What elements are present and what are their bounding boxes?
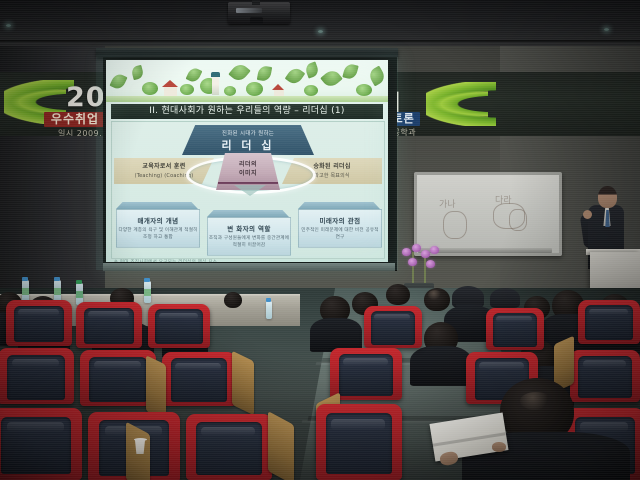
bottle-cap — [22, 277, 28, 281]
auditorium-seat[interactable] — [186, 414, 272, 480]
orchid-bloom — [430, 246, 439, 254]
ceiling-light — [6, 24, 11, 27]
bush-icon — [246, 82, 263, 96]
seat-highlight — [580, 422, 628, 432]
slide-title: II. 현대사회가 원하는 우리들의 역량 – 리더십 (1) — [111, 104, 383, 119]
bush-icon — [304, 85, 318, 96]
cube-top-face — [207, 210, 289, 217]
auditorium-seat[interactable] — [0, 348, 74, 404]
leaf-icon — [304, 61, 320, 78]
ceiling-light — [318, 30, 323, 33]
auditorium-seat[interactable] — [80, 350, 156, 406]
diagram-header-box: 진화된 시대가 원하는 리 더 십 — [182, 125, 314, 155]
screen-bottom-edge — [103, 263, 395, 271]
bush-icon — [180, 84, 194, 95]
leaf-icon — [228, 61, 250, 84]
seat-highlight — [589, 309, 627, 315]
bottle-cap — [266, 298, 271, 302]
ceiling-seam — [0, 40, 640, 42]
diagram-cube-2: 변 화자의 역할 조직과 구성원들에게 변화를 중간관계에 적절히 이끌어감 — [207, 210, 289, 254]
bottle-cap — [54, 277, 60, 281]
projector-lens — [250, 17, 263, 25]
presenter-head — [598, 186, 617, 208]
cap-icon — [490, 288, 520, 308]
diagram-cube-1: 매개자의 개념 다양한 계층의 욕구 및 이해관계 적절히 조정 하고 통합 — [116, 202, 198, 246]
slide-decorative-band — [106, 60, 388, 102]
projector-mount — [252, 0, 260, 5]
person-hand — [492, 442, 506, 452]
person-head — [386, 284, 410, 305]
auditorium-seat[interactable] — [0, 408, 82, 480]
cube-front-face: 미래자의 관점 민주적인 미래문제에 대한 비전 공유적 연구 — [298, 209, 382, 248]
bottle-cap — [144, 278, 150, 282]
auditorium-seat[interactable] — [570, 350, 640, 402]
person-head — [224, 292, 242, 308]
seat-highlight — [12, 359, 59, 367]
core-line2: 이미지 — [216, 169, 280, 178]
slide-diagram: 진화된 시대가 원하는 리 더 십 교육자로서 훈련 (Teaching) (C… — [111, 121, 385, 259]
leaf-icon — [285, 65, 306, 86]
seat-highlight — [343, 358, 388, 365]
diagram-header-title: 리 더 십 — [182, 139, 314, 153]
orchid-bloom — [402, 248, 411, 256]
bush-icon — [142, 82, 158, 95]
lighthouse-icon — [212, 77, 219, 95]
leaf-icon — [367, 66, 387, 87]
seat-highlight — [201, 427, 254, 436]
cube-1-title: 매개자의 개념 — [117, 210, 199, 227]
bottle-label — [54, 288, 61, 295]
cube-2-sub: 조직과 구성원들에게 변화를 중간관계에 적절히 이끌어감 — [208, 235, 290, 249]
bush-icon — [356, 84, 372, 96]
cube-front-face: 변 화자의 역할 조직과 구성원들에게 변화를 중간관계에 적절히 이끌어감 — [207, 217, 291, 256]
bottle-cap — [76, 280, 82, 284]
ceiling-light — [604, 28, 609, 31]
cube-3-sub: 민주적인 미래문제에 대한 비전 공유적 연구 — [299, 227, 381, 241]
auditorium-seat[interactable] — [76, 302, 142, 348]
cube-1-sub: 다양한 계층의 욕구 및 이해관계 적절히 조정 하고 통합 — [117, 227, 199, 241]
diagram-header-subtitle: 진화된 시대가 원하는 — [182, 125, 314, 139]
seat-highlight — [7, 422, 64, 432]
cube-3-title: 미래자의 관점 — [299, 210, 381, 227]
orchid-stem — [424, 256, 426, 286]
leaf-icon — [109, 72, 127, 91]
lecture-hall-photo: 200 우수취업 일시 2009. 수회 공전학토론 학교 환경공학과 — [0, 0, 640, 480]
presenter-hand — [583, 210, 592, 219]
seat-highlight — [94, 361, 141, 369]
auditorium-seat[interactable] — [364, 306, 422, 348]
cube-top-face — [298, 202, 380, 209]
seat-highlight — [88, 311, 129, 317]
whiteboard-mark: 가나 — [439, 197, 456, 210]
projection-screen: II. 현대사회가 원하는 우리들의 역량 – 리더십 (1) 진화된 시대가 … — [106, 60, 388, 262]
seat-highlight — [496, 316, 532, 322]
bottle-label — [76, 291, 83, 298]
seat-armrest — [232, 351, 254, 416]
seat-highlight — [175, 363, 221, 371]
diagram-cube-3: 미래자의 관점 민주적인 미래문제에 대한 비전 공유적 연구 — [298, 202, 380, 246]
banner-left-sub: 일시 2009. — [58, 128, 102, 136]
bottle-label — [144, 289, 151, 296]
whiteboard: 가나 다라 — [414, 172, 562, 256]
core-underline — [218, 182, 278, 184]
orchid-bloom — [426, 260, 435, 268]
orchid-bloom — [421, 250, 430, 258]
leaf-icon — [186, 66, 203, 84]
person-hair-highlight — [428, 290, 442, 300]
bush-icon — [224, 86, 236, 96]
auditorium-seat[interactable] — [486, 308, 544, 350]
auditorium-seat[interactable] — [148, 304, 210, 348]
projector-highlight — [236, 8, 262, 13]
cube-front-face: 매개자의 개념 다양한 계층의 욕구 및 이해관계 적절히 조정 하고 통합 — [116, 209, 200, 248]
bottle-label — [22, 288, 29, 295]
seat-highlight — [374, 314, 410, 320]
water-bottle — [266, 301, 272, 319]
banner-red-band: 우수취업 — [44, 112, 106, 127]
whiteboard-scribble — [443, 211, 467, 239]
house-icon — [164, 87, 177, 96]
auditorium-seat[interactable] — [6, 300, 72, 346]
green-swoosh-logo — [426, 78, 500, 130]
core-line1: 리더의 — [216, 160, 280, 169]
grass-line — [106, 96, 388, 102]
auditorium-seat[interactable] — [578, 300, 640, 344]
seat-highlight — [583, 360, 626, 367]
down-arrow-icon — [234, 185, 266, 196]
seat-highlight — [159, 313, 197, 319]
leaf-icon — [320, 67, 343, 89]
auditorium-seat[interactable] — [330, 348, 402, 400]
cube-top-face — [116, 202, 198, 209]
whiteboard-scribble — [509, 209, 527, 231]
leaf-icon — [257, 65, 272, 82]
auditorium-seat[interactable] — [316, 404, 402, 480]
seat-highlight — [331, 419, 384, 430]
auditorium-seat[interactable] — [162, 352, 236, 406]
orchid-bloom — [412, 244, 421, 252]
person-shoulders — [310, 318, 362, 352]
person-hair-highlight — [520, 392, 552, 410]
cube-2-title: 변 화자의 역할 — [208, 218, 290, 235]
presentation-slide: II. 현대사회가 원하는 우리들의 역량 – 리더십 (1) 진화된 시대가 … — [106, 60, 388, 262]
orchid-bloom — [408, 258, 417, 266]
leaf-icon — [131, 65, 145, 80]
seat-armrest — [146, 355, 166, 421]
seat-highlight — [18, 309, 59, 315]
house-roof-icon — [162, 80, 178, 87]
slide-footer-note: ※ 현대 조직사회에서 요구되는 리더십의 핵심 요소 — [114, 259, 374, 262]
seat-highlight — [479, 362, 524, 369]
screen-roller-bar — [96, 48, 398, 57]
leaf-icon — [342, 63, 358, 81]
person-shoulders — [410, 346, 472, 386]
